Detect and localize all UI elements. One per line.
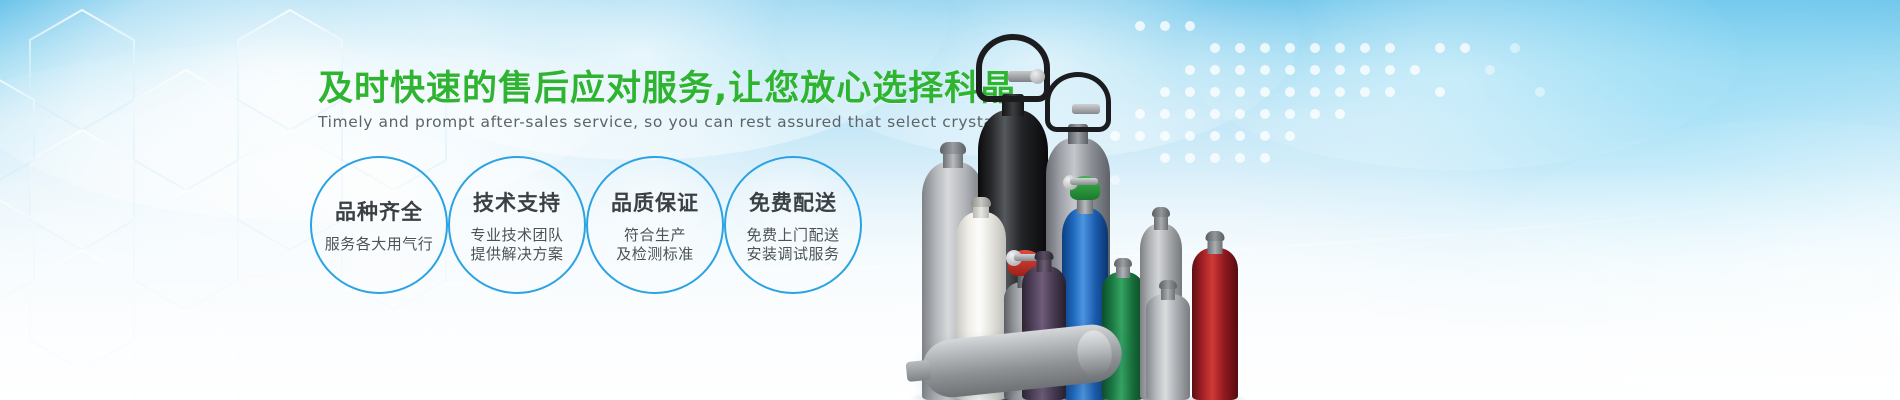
- feature-subtitle-line2: 及检测标准: [616, 245, 694, 264]
- feature-subtitle-line1: 免费上门配送: [746, 226, 839, 245]
- feature-subtitle-line1: 服务各大用气行: [325, 235, 434, 254]
- feature-subtitle-line1: 符合生产: [616, 226, 694, 245]
- feature-title: 品质保证: [611, 187, 699, 217]
- feature-subtitle: 符合生产 及检测标准: [616, 226, 694, 264]
- after-sales-service-banner: 及时快速的售后应对服务,让您放心选择科晶 Timely and prompt a…: [0, 0, 1900, 400]
- feature-subtitle: 服务各大用气行: [325, 235, 434, 254]
- right-glow: [1220, 0, 1900, 360]
- feature-circle-1[interactable]: 品种齐全 服务各大用气行: [310, 156, 448, 294]
- feature-subtitle-line2: 安装调试服务: [746, 245, 839, 264]
- feature-circle-4[interactable]: 免费配送 免费上门配送 安装调试服务: [724, 156, 862, 294]
- feature-subtitle: 专业技术团队 提供解决方案: [470, 226, 563, 264]
- feature-title: 品种齐全: [335, 196, 423, 226]
- green-cylinder: [1102, 256, 1144, 400]
- cloud-6: [1480, 120, 1900, 400]
- feature-circle-3[interactable]: 品质保证 符合生产 及检测标准: [586, 156, 724, 294]
- feature-circle-group: 品种齐全 服务各大用气行 技术支持 专业技术团队 提供解决方案 品质保证 符合生…: [300, 150, 940, 310]
- hexagon-fills: [30, 10, 342, 250]
- aluminium-cylinder: [1146, 278, 1190, 400]
- feature-subtitle-line1: 专业技术团队: [470, 226, 563, 245]
- feature-title: 技术支持: [473, 187, 561, 217]
- feature-subtitle: 免费上门配送 安装调试服务: [746, 226, 839, 264]
- gas-cylinder-product-image: [900, 0, 1320, 400]
- feature-title: 免费配送: [749, 187, 837, 217]
- feature-circle-2[interactable]: 技术支持 专业技术团队 提供解决方案: [448, 156, 586, 294]
- feature-subtitle-line2: 提供解决方案: [470, 245, 563, 264]
- red-cylinder: [1192, 228, 1238, 400]
